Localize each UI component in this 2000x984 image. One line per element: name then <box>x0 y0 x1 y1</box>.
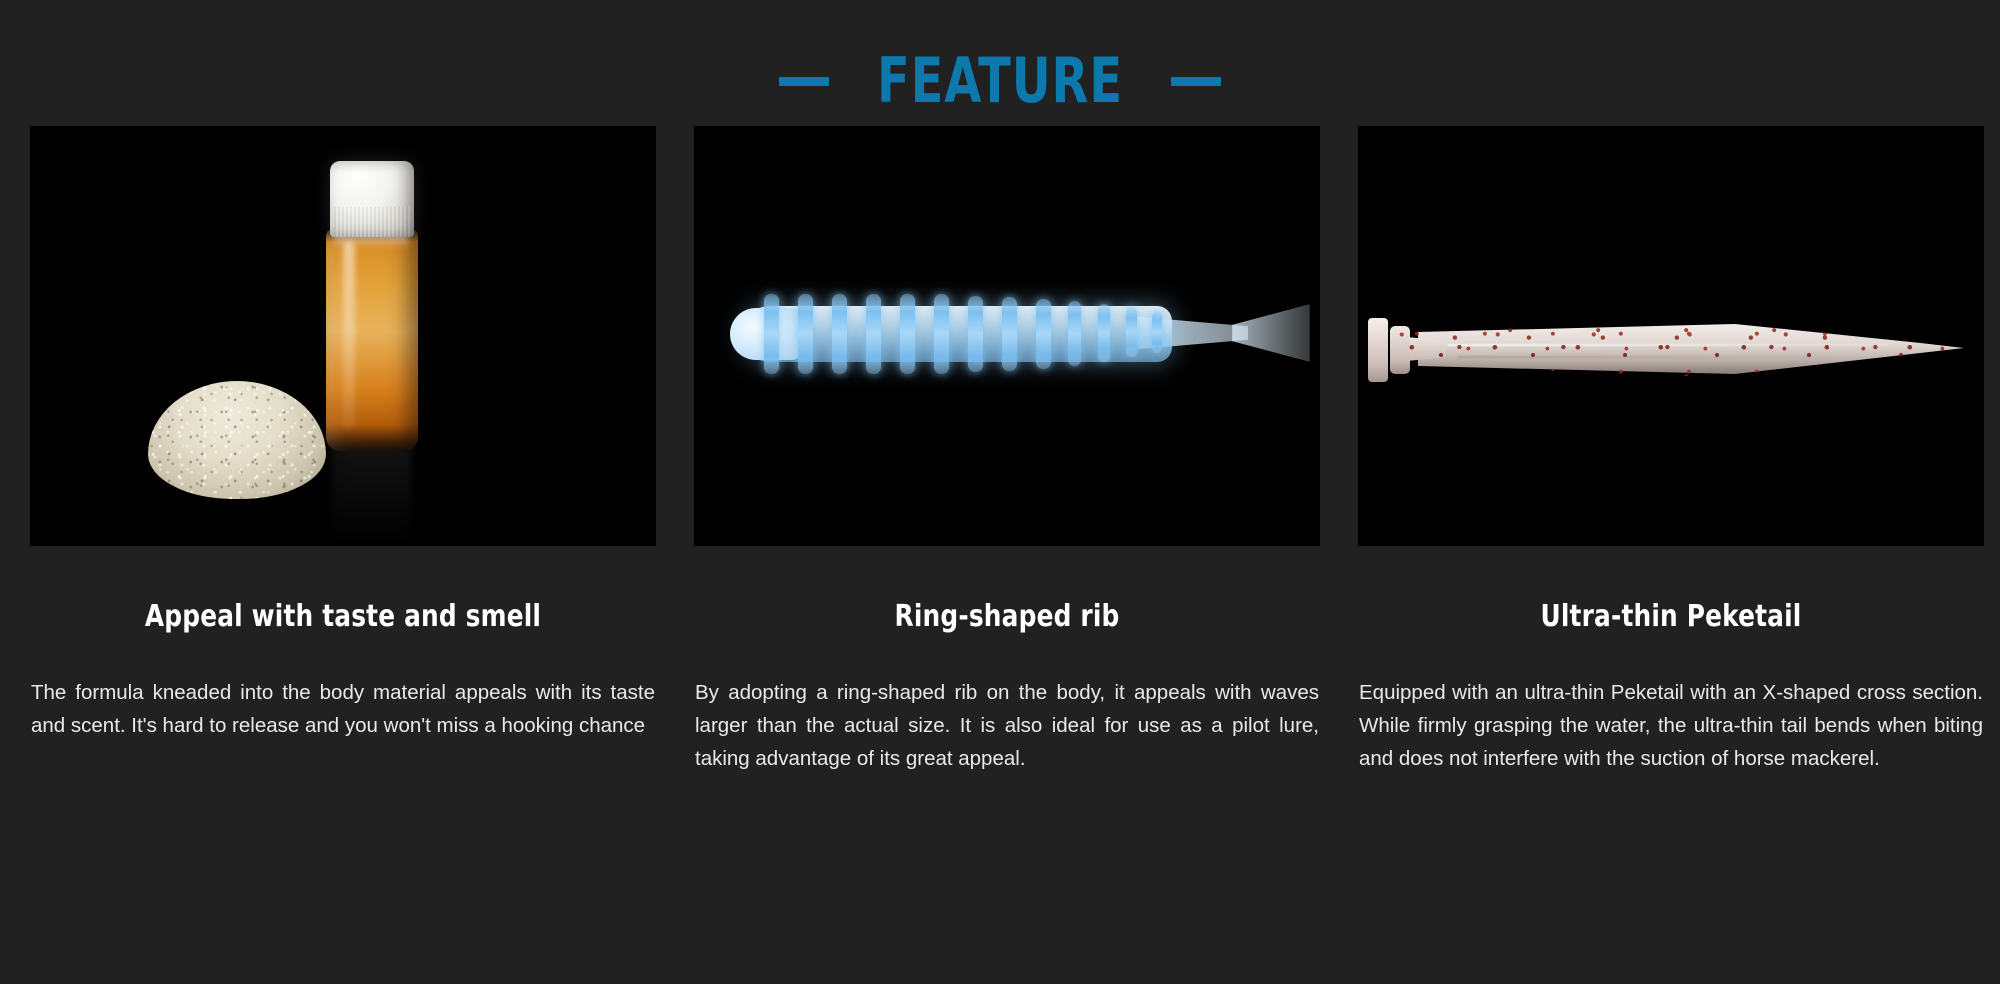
peketail-lure <box>1362 306 1974 392</box>
feature-card-ultra-thin-peketail: Ultra-thin Peketail Equipped with an ult… <box>1358 126 1984 776</box>
photo-ultra-thin-peketail-art <box>1358 126 1984 546</box>
worm-rib <box>764 294 779 374</box>
worm-rib <box>968 296 983 372</box>
photo-bottle-and-powder-art <box>30 126 656 546</box>
section-title: FEATURE <box>877 50 1123 112</box>
bottle-body <box>326 229 418 451</box>
feature-body: The formula kneaded into the body materi… <box>30 676 656 742</box>
worm-rib <box>1002 297 1017 371</box>
worm-rib <box>798 294 813 374</box>
worm-rib <box>934 294 949 374</box>
feature-card-appeal-with-taste-and-smell: Appeal with taste and smell The formula … <box>30 126 656 776</box>
photo-ultra-thin-peketail[interactable] <box>1358 126 1984 546</box>
worm-rib <box>832 294 847 374</box>
worm-rib <box>900 294 915 374</box>
bottle-cap <box>330 161 414 237</box>
ribbed-worm-lure <box>708 274 1308 392</box>
worm-rib <box>1036 299 1051 369</box>
worm-rib <box>1068 301 1081 366</box>
heading-dash-right-icon <box>1171 77 1221 86</box>
section-heading: FEATURE <box>0 0 2000 120</box>
powder-pile <box>148 381 326 499</box>
feature-card-ring-shaped-rib: Ring-shaped rib By adopting a ring-shape… <box>694 126 1320 776</box>
feature-body: Equipped with an ultra-thin Peketail wit… <box>1358 676 1984 776</box>
peketail-collar-outer <box>1368 318 1388 382</box>
feature-title: Ring-shaped rib <box>719 599 1295 634</box>
worm-rib <box>1126 307 1137 357</box>
bottle-shadow <box>330 444 412 546</box>
feature-section-page: FEATURE Appeal w <box>0 0 2000 984</box>
feature-body: By adopting a ring-shaped rib on the bod… <box>694 676 1320 776</box>
photo-ring-shaped-rib-lure-art <box>694 126 1320 546</box>
feature-title: Appeal with taste and smell <box>55 599 631 634</box>
peketail-red-flakes <box>1372 320 1962 378</box>
liquid-bottle <box>326 161 418 451</box>
worm-rib <box>1152 311 1162 353</box>
feature-title: Ultra-thin Peketail <box>1383 599 1959 634</box>
powder-grain-texture <box>148 381 326 499</box>
worm-rib <box>1098 304 1110 362</box>
worm-rib <box>866 294 881 374</box>
photo-bottle-and-powder[interactable] <box>30 126 656 546</box>
heading-dash-left-icon <box>779 77 829 86</box>
feature-grid: Appeal with taste and smell The formula … <box>0 126 2000 776</box>
photo-ring-shaped-rib-lure[interactable] <box>694 126 1320 546</box>
bottle-gloss-highlight <box>343 241 355 429</box>
